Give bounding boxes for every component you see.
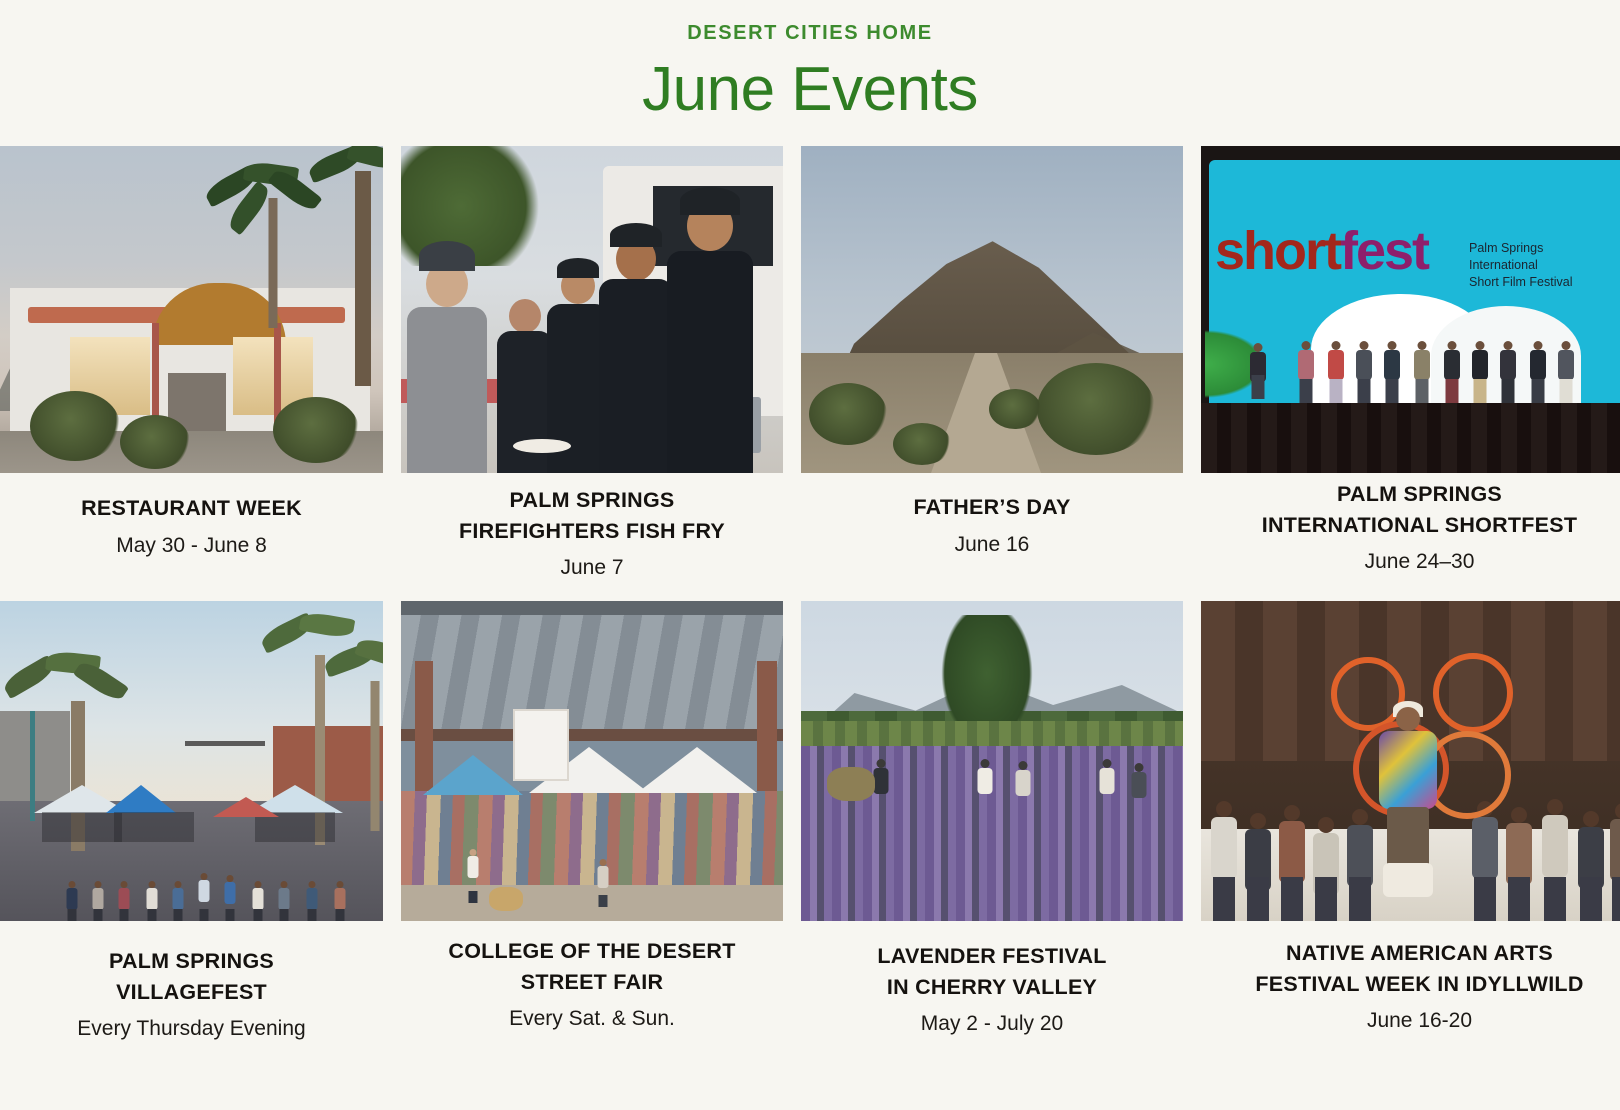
shortfest-logo-part1: short (1215, 221, 1340, 281)
events-page: DESERT CITIES HOME June Events (0, 0, 1620, 1110)
event-title: PALM SPRINGS FIREFIGHTERS FISH FRY (409, 485, 775, 546)
event-image-international-shortfest[interactable]: shortfest Palm Springs International Sho… (1201, 146, 1620, 473)
event-card-international-shortfest[interactable]: shortfest Palm Springs International Sho… (1201, 146, 1620, 578)
event-title: COLLEGE OF THE DESERT STREET FAIR (409, 936, 775, 997)
event-title: FATHER’S DAY (809, 492, 1175, 523)
event-caption-native-american-arts-festival: NATIVE AMERICAN ARTS FESTIVAL WEEK IN ID… (1201, 921, 1620, 1037)
event-date: Every Thursday Evening (8, 1013, 375, 1045)
event-card-villagefest[interactable]: PALM SPRINGS VILLAGEFEST Every Thursday … (0, 601, 383, 1045)
shortfest-logo-part2: fest (1340, 221, 1428, 281)
event-title: RESTAURANT WEEK (8, 493, 375, 524)
event-image-restaurant-week[interactable] (0, 146, 383, 473)
events-row-1: RESTAURANT WEEK May 30 - June 8 (0, 146, 1620, 601)
event-card-restaurant-week[interactable]: RESTAURANT WEEK May 30 - June 8 (0, 146, 383, 561)
event-title: LAVENDER FESTIVAL IN CHERRY VALLEY (809, 941, 1175, 1002)
event-image-firefighters-fish-fry[interactable] (401, 146, 783, 473)
event-caption-firefighters-fish-fry: PALM SPRINGS FIREFIGHTERS FISH FRY June … (401, 473, 783, 584)
event-caption-street-fair: COLLEGE OF THE DESERT STREET FAIR Every … (401, 921, 783, 1035)
event-image-lavender-festival[interactable] (801, 601, 1183, 921)
event-image-villagefest[interactable] (0, 601, 383, 921)
page-header: DESERT CITIES HOME June Events (0, 0, 1620, 125)
event-caption-villagefest: PALM SPRINGS VILLAGEFEST Every Thursday … (0, 921, 383, 1045)
event-title: PALM SPRINGS VILLAGEFEST (8, 946, 375, 1007)
event-card-firefighters-fish-fry[interactable]: PALM SPRINGS FIREFIGHTERS FISH FRY June … (401, 146, 783, 584)
event-card-native-american-arts-festival[interactable]: NATIVE AMERICAN ARTS FESTIVAL WEEK IN ID… (1201, 601, 1620, 1037)
event-image-native-american-arts-festival[interactable] (1201, 601, 1620, 921)
event-image-street-fair[interactable] (401, 601, 783, 921)
event-title: NATIVE AMERICAN ARTS FESTIVAL WEEK IN ID… (1209, 938, 1620, 999)
event-date: June 16-20 (1209, 1005, 1620, 1037)
shortfest-logo: shortfest (1215, 224, 1428, 278)
events-row-2: PALM SPRINGS VILLAGEFEST Every Thursday … (0, 601, 1620, 1109)
event-date: June 16 (809, 529, 1175, 561)
event-image-fathers-day[interactable] (801, 146, 1183, 473)
event-card-fathers-day[interactable]: FATHER’S DAY June 16 (801, 146, 1183, 560)
event-caption-lavender-festival: LAVENDER FESTIVAL IN CHERRY VALLEY May 2… (801, 921, 1183, 1040)
event-date: June 7 (409, 552, 775, 584)
events-grid: RESTAURANT WEEK May 30 - June 8 (0, 146, 1620, 1109)
event-caption-fathers-day: FATHER’S DAY June 16 (801, 473, 1183, 560)
site-name-eyebrow: DESERT CITIES HOME (0, 22, 1620, 44)
event-date: May 30 - June 8 (8, 530, 375, 562)
event-caption-international-shortfest: PALM SPRINGS INTERNATIONAL SHORTFEST Jun… (1201, 473, 1620, 578)
event-date: Every Sat. & Sun. (409, 1003, 775, 1035)
page-title: June Events (0, 54, 1620, 125)
event-caption-restaurant-week: RESTAURANT WEEK May 30 - June 8 (0, 473, 383, 561)
shortfest-poster-subtitle: Palm Springs International Short Film Fe… (1469, 240, 1573, 291)
event-card-street-fair[interactable]: COLLEGE OF THE DESERT STREET FAIR Every … (401, 601, 783, 1035)
event-card-lavender-festival[interactable]: LAVENDER FESTIVAL IN CHERRY VALLEY May 2… (801, 601, 1183, 1040)
event-title: PALM SPRINGS INTERNATIONAL SHORTFEST (1209, 479, 1620, 540)
event-date: May 2 - July 20 (809, 1008, 1175, 1040)
event-date: June 24–30 (1209, 546, 1620, 578)
